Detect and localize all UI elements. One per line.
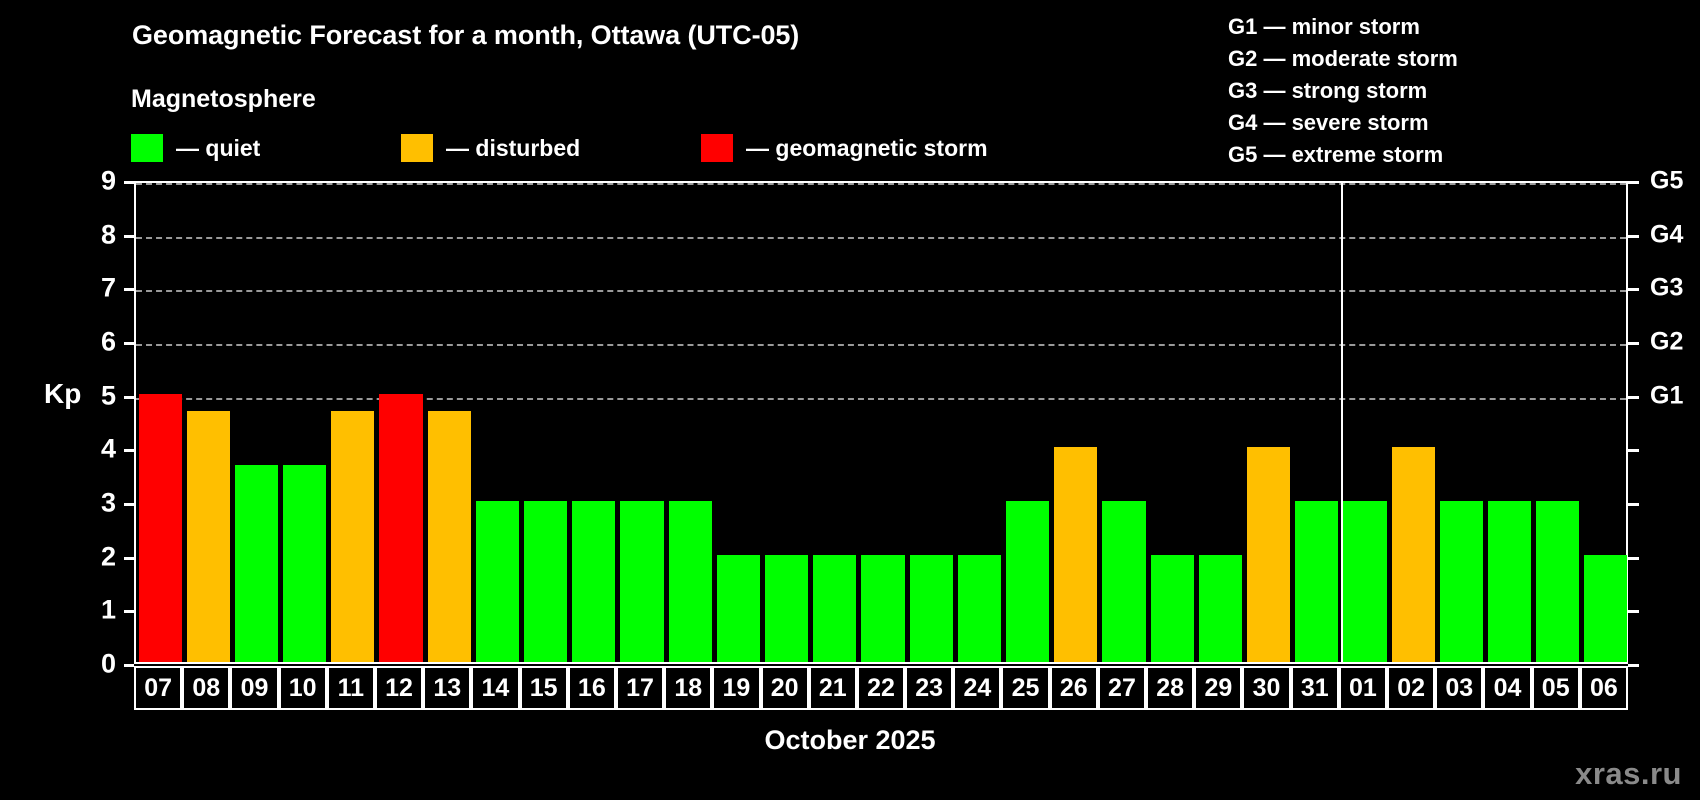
date-label-14: 14 (471, 666, 519, 710)
magnetosphere-section-label: Magnetosphere (131, 85, 316, 114)
bar-09 (235, 465, 278, 662)
bar-04 (1488, 501, 1531, 662)
disturbed-legend-swatch-icon (401, 134, 433, 162)
date-label-01: 01 (1339, 666, 1387, 710)
g-axis-tick-kp-8 (1628, 235, 1639, 238)
date-label-26: 26 (1050, 666, 1098, 710)
date-label-04: 04 (1483, 666, 1531, 710)
date-label-18: 18 (664, 666, 712, 710)
bar-02 (1392, 447, 1435, 662)
y-tick-label-2: 2 (76, 541, 116, 572)
storm-legend: — geomagnetic storm (701, 134, 988, 162)
date-label-31: 31 (1291, 666, 1339, 710)
bar-18 (669, 501, 712, 662)
bar-17 (620, 501, 663, 662)
date-label-25: 25 (1001, 666, 1049, 710)
date-label-06: 06 (1580, 666, 1628, 710)
date-label-30: 30 (1242, 666, 1290, 710)
g-axis-tick-kp-1 (1628, 610, 1639, 613)
bar-12 (379, 394, 422, 662)
bar-15 (524, 501, 567, 662)
storm-legend-swatch-icon (701, 134, 733, 162)
g-axis-tick-kp-2 (1628, 557, 1639, 560)
bar-01 (1343, 501, 1386, 662)
date-label-29: 29 (1194, 666, 1242, 710)
storm-legend-text: — geomagnetic storm (746, 135, 988, 162)
bar-10 (283, 465, 326, 662)
date-label-27: 27 (1098, 666, 1146, 710)
bar-24 (958, 555, 1001, 662)
y-tick-6 (124, 342, 134, 345)
date-label-02: 02 (1387, 666, 1435, 710)
g-scale-row-3: G3 — strong storm (1228, 75, 1458, 107)
page-title: Geomagnetic Forecast for a month, Ottawa… (132, 20, 799, 51)
bar-30 (1247, 447, 1290, 662)
g-axis-label-G5: G5 (1650, 167, 1683, 196)
date-label-11: 11 (327, 666, 375, 710)
g-axis-label-G4: G4 (1650, 220, 1683, 249)
y-tick-label-4: 4 (76, 434, 116, 465)
date-label-21: 21 (809, 666, 857, 710)
g-axis-tick-kp-9 (1628, 181, 1639, 184)
bar-29 (1199, 555, 1242, 662)
date-label-20: 20 (761, 666, 809, 710)
g-scale-row-2: G2 — moderate storm (1228, 43, 1458, 75)
bar-08 (187, 411, 230, 662)
date-label-28: 28 (1146, 666, 1194, 710)
bar-20 (765, 555, 808, 662)
date-label-13: 13 (423, 666, 471, 710)
y-tick-label-3: 3 (76, 488, 116, 519)
g-scale-row-4: G4 — severe storm (1228, 107, 1458, 139)
g-axis-tick-kp-7 (1628, 288, 1639, 291)
y-tick-4 (124, 449, 134, 452)
date-label-05: 05 (1532, 666, 1580, 710)
x-axis-label: October 2025 (0, 725, 1700, 756)
y-tick-label-8: 8 (76, 219, 116, 250)
bar-13 (428, 411, 471, 662)
bar-22 (861, 555, 904, 662)
date-label-16: 16 (568, 666, 616, 710)
y-tick-8 (124, 235, 134, 238)
color-legend: — quiet— disturbed— geomagnetic storm (131, 133, 1031, 163)
bar-31 (1295, 501, 1338, 662)
g-scale-legend: G1 — minor stormG2 — moderate stormG3 — … (1228, 11, 1458, 171)
watermark: xras.ru (1575, 756, 1682, 792)
g-axis-tick-kp-0 (1628, 664, 1639, 667)
date-label-08: 08 (182, 666, 230, 710)
y-tick-label-6: 6 (76, 327, 116, 358)
date-label-07: 07 (134, 666, 182, 710)
date-label-22: 22 (857, 666, 905, 710)
bar-23 (910, 555, 953, 662)
y-axis-label: Kp (44, 378, 81, 410)
y-tick-label-1: 1 (76, 595, 116, 626)
bar-26 (1054, 447, 1097, 662)
g-axis-tick-kp-4 (1628, 449, 1639, 452)
g-scale-axis: G1G2G3G4G5 (1628, 181, 1698, 664)
date-label-03: 03 (1435, 666, 1483, 710)
y-tick-3 (124, 503, 134, 506)
bar-03 (1440, 501, 1483, 662)
y-tick-1 (124, 610, 134, 613)
date-label-23: 23 (905, 666, 953, 710)
quiet-legend-swatch-icon (131, 134, 163, 162)
bars-layer (136, 183, 1626, 662)
y-tick-9 (124, 181, 134, 184)
bar-27 (1102, 501, 1145, 662)
y-tick-label-9: 9 (76, 166, 116, 197)
bar-05 (1536, 501, 1579, 662)
date-label-12: 12 (375, 666, 423, 710)
date-label-09: 09 (230, 666, 278, 710)
bar-11 (331, 411, 374, 662)
plot-area (134, 181, 1628, 664)
y-tick-2 (124, 557, 134, 560)
bar-25 (1006, 501, 1049, 662)
disturbed-legend-text: — disturbed (446, 135, 580, 162)
bar-28 (1151, 555, 1194, 662)
y-tick-0 (124, 664, 134, 667)
date-label-24: 24 (953, 666, 1001, 710)
today-divider-line (1341, 183, 1343, 662)
bar-07 (139, 394, 182, 662)
y-tick-5 (124, 396, 134, 399)
x-axis-date-labels: 0708091011121314151617181920212223242526… (134, 666, 1628, 710)
date-label-10: 10 (279, 666, 327, 710)
g-axis-tick-kp-6 (1628, 342, 1639, 345)
date-label-17: 17 (616, 666, 664, 710)
bar-19 (717, 555, 760, 662)
quiet-legend: — quiet (131, 134, 260, 162)
g-axis-label-G3: G3 (1650, 274, 1683, 303)
y-tick-7 (124, 288, 134, 291)
disturbed-legend: — disturbed (401, 134, 580, 162)
g-axis-label-G1: G1 (1650, 381, 1683, 410)
y-tick-label-7: 7 (76, 273, 116, 304)
plot-inner (136, 183, 1626, 662)
date-label-19: 19 (712, 666, 760, 710)
y-tick-label-0: 0 (76, 649, 116, 680)
date-label-15: 15 (520, 666, 568, 710)
g-axis-tick-kp-5 (1628, 396, 1639, 399)
g-scale-row-1: G1 — minor storm (1228, 11, 1458, 43)
bar-06 (1584, 555, 1627, 662)
bar-21 (813, 555, 856, 662)
g-axis-tick-kp-3 (1628, 503, 1639, 506)
quiet-legend-text: — quiet (176, 135, 260, 162)
y-tick-label-5: 5 (76, 380, 116, 411)
bar-14 (476, 501, 519, 662)
bar-16 (572, 501, 615, 662)
g-scale-row-5: G5 — extreme storm (1228, 139, 1458, 171)
g-axis-label-G2: G2 (1650, 328, 1683, 357)
